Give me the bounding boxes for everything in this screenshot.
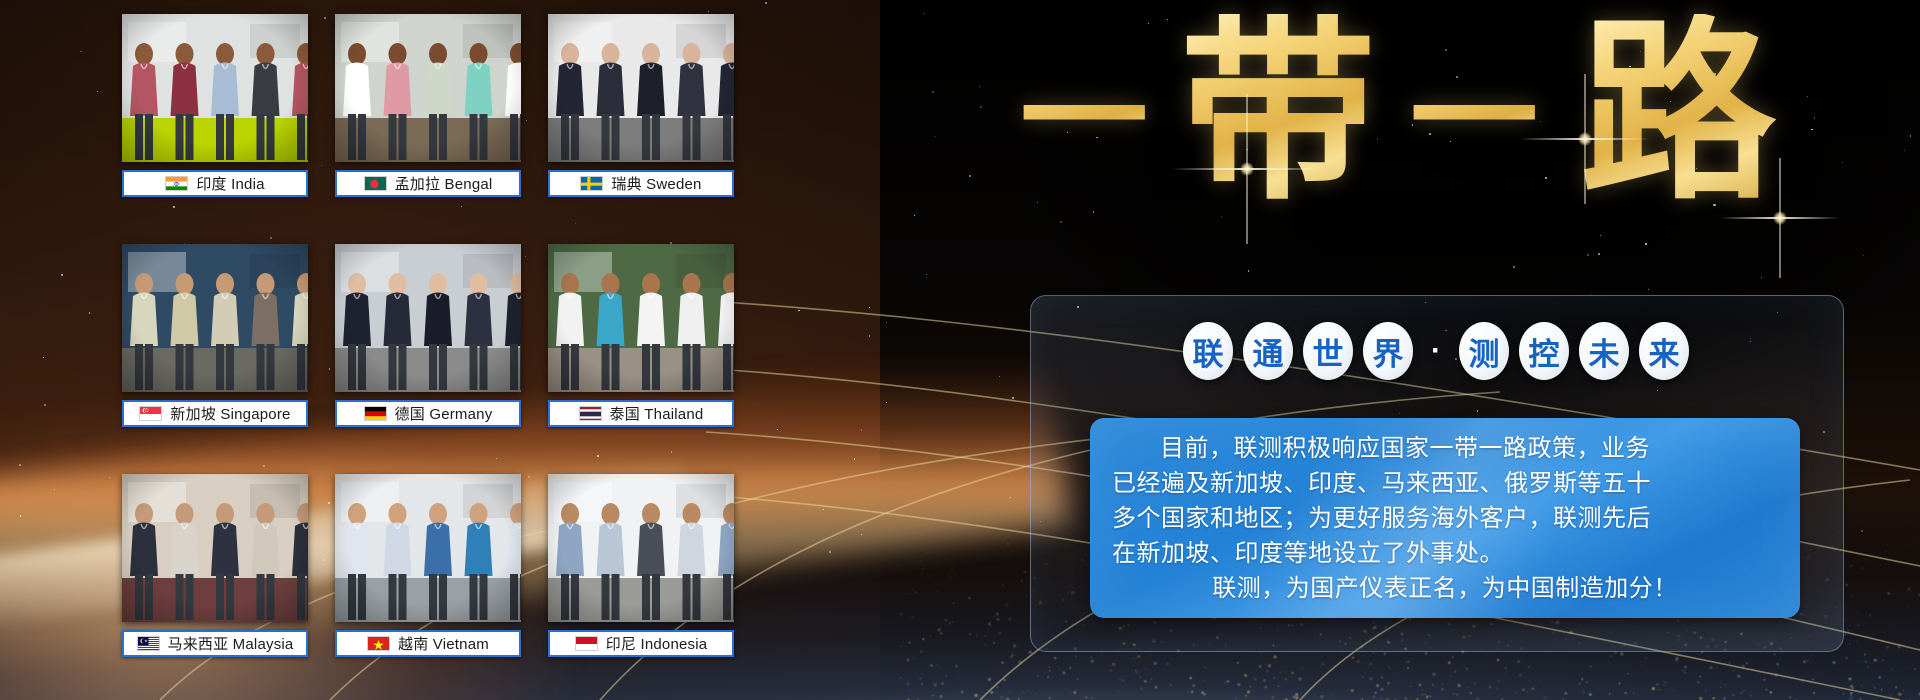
gallery-label-text: 德国 Germany [395,403,493,424]
gallery-photo[interactable] [548,474,734,622]
calligraphy-char-1: 一 [1020,54,1148,182]
gallery-photo[interactable] [548,244,734,392]
gallery-label-text: 印尼 Indonesia [606,633,708,654]
slogan-char: 未 [1579,322,1629,380]
about-text-body: 目前，联测积极响应国家一带一路政策，业务 已经遍及新加坡、印度、马来西亚、俄罗斯… [1090,418,1800,606]
gallery-photo[interactable] [335,14,521,162]
slogan-char: 界 [1363,322,1413,380]
gallery-label: 印尼 Indonesia [548,630,734,657]
gallery-item[interactable]: 瑞典 Sweden [548,14,734,197]
gallery-label-text: 马来西亚 Malaysia [168,633,294,654]
gallery-label: 越南 Vietnam [335,630,521,657]
about-line-5: 联测，为国产仪表正名，为中国制造加分！ [1112,571,1778,606]
gallery-label: 瑞典 Sweden [548,170,734,197]
about-line-1: 目前，联测积极响应国家一带一路政策，业务 [1112,431,1778,466]
about-line-2: 已经遍及新加坡、印度、马来西亚、俄罗斯等五十 [1112,466,1778,501]
slogan-char: 控 [1519,322,1569,380]
calligraphy-char-3: 一 [1410,54,1538,182]
gallery-label: 印度 India [122,170,308,197]
gallery-photo[interactable] [548,14,734,162]
flag-bangladesh-icon [364,176,387,191]
gallery-item[interactable]: 马来西亚 Malaysia [122,474,308,657]
banner-stage: 印度 India孟加拉 Bengal瑞典 Sweden新加坡 Singapore… [0,0,1920,700]
gallery-label-text: 瑞典 Sweden [611,173,701,194]
calligraphy-char-2: 带 [1180,14,1376,210]
calligraphy-char-4: 路 [1580,14,1776,210]
gallery-photo[interactable] [335,244,521,392]
flag-thailand-icon [579,406,602,421]
gallery-label: 德国 Germany [335,400,521,427]
flag-vietnam-icon [367,636,390,651]
belt-and-road-calligraphy: 一 带 一 路 [1020,8,1900,223]
gallery-label: 泰国 Thailand [548,400,734,427]
gallery-label-text: 泰国 Thailand [610,403,704,424]
gallery-item[interactable]: 越南 Vietnam [335,474,521,657]
slogan-char: 通 [1243,322,1293,380]
flag-singapore-icon [139,406,162,421]
gallery-label-text: 新加坡 Singapore [170,403,290,424]
gallery-photo[interactable] [335,474,521,622]
gallery-label-text: 印度 India [196,173,264,194]
flag-indonesia-icon [575,636,598,651]
gallery-label-text: 孟加拉 Bengal [395,173,493,194]
country-photo-grid: 印度 India孟加拉 Bengal瑞典 Sweden新加坡 Singapore… [122,14,802,686]
flag-india-icon [165,176,188,191]
about-line-3: 多个国家和地区；为更好服务海外客户，联测先后 [1112,501,1778,536]
gallery-label: 新加坡 Singapore [122,400,308,427]
gallery-label-text: 越南 Vietnam [398,633,489,654]
gallery-item[interactable]: 德国 Germany [335,244,521,427]
flag-sweden-icon [580,176,603,191]
slogan-char: 测 [1459,322,1509,380]
slogan-char: 世 [1303,322,1353,380]
about-text-panel: 目前，联测积极响应国家一带一路政策，业务 已经遍及新加坡、印度、马来西亚、俄罗斯… [1090,418,1800,618]
gallery-item[interactable]: 泰国 Thailand [548,244,734,427]
slogan-char: 来 [1639,322,1689,380]
gallery-item[interactable]: 孟加拉 Bengal [335,14,521,197]
gallery-photo[interactable] [122,244,308,392]
about-line-4: 在新加坡、印度等地设立了外事处。 [1112,536,1778,571]
flag-malaysia-icon [137,636,160,651]
gallery-item[interactable]: 新加坡 Singapore [122,244,308,427]
company-slogan: 联通世界·测控未来 [1030,320,1842,382]
slogan-char: 联 [1183,322,1233,380]
gallery-photo[interactable] [122,14,308,162]
gallery-item[interactable]: 印度 India [122,14,308,197]
gallery-label: 马来西亚 Malaysia [122,630,308,657]
flag-germany-icon [364,406,387,421]
gallery-photo[interactable] [122,474,308,622]
gallery-label: 孟加拉 Bengal [335,170,521,197]
slogan-separator: · [1423,322,1449,380]
gallery-item[interactable]: 印尼 Indonesia [548,474,734,657]
